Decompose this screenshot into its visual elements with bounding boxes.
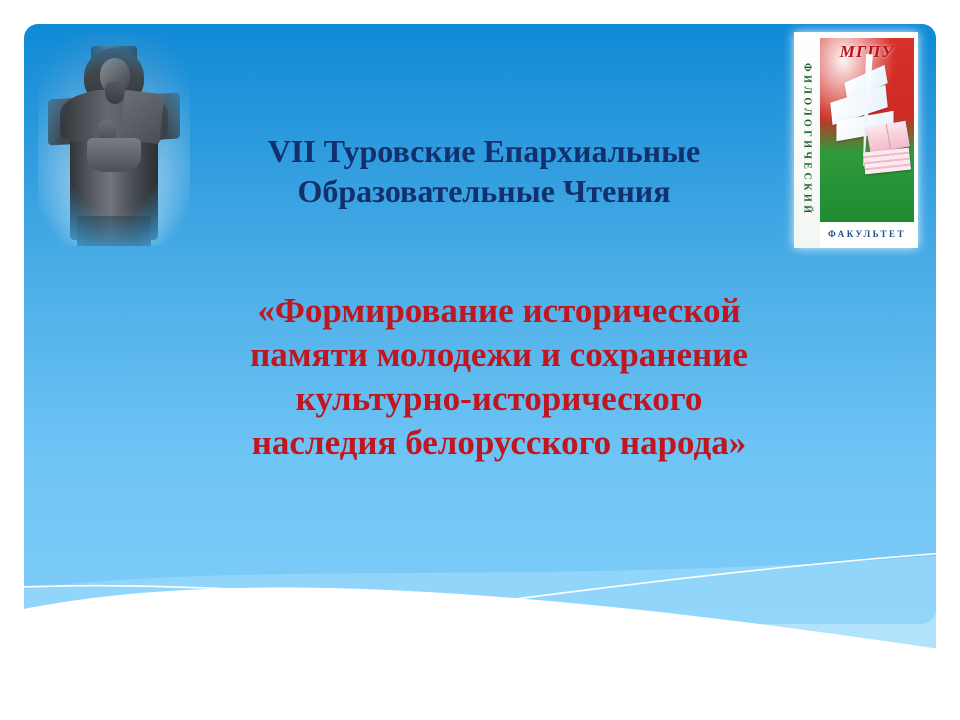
slide-subtitle-line-1: «Формирование исторической bbox=[134, 289, 864, 333]
logo-vertical-label: ФИЛОЛОГИЧЕСКИЙ bbox=[802, 63, 813, 217]
logo-artwork: МГПУ bbox=[820, 38, 914, 222]
slide-title-line-1: VII Туровские Епархиальные bbox=[174, 132, 794, 172]
left-margin-mask bbox=[0, 530, 24, 720]
slide-subtitle: «Формирование исторической памяти молоде… bbox=[134, 289, 864, 465]
right-margin-mask bbox=[936, 530, 960, 720]
slide-subtitle-line-4: наследия белорусского народа» bbox=[134, 421, 864, 465]
slide-title-line-2: Образовательные Чтения bbox=[174, 172, 794, 212]
statue-tablet bbox=[119, 90, 164, 144]
turov-monument-photo bbox=[38, 34, 190, 246]
statue-robe-fold bbox=[87, 138, 141, 172]
mgpu-philological-faculty-logo: ФИЛОЛОГИЧЕСКИЙ МГПУ ФАКУЛЬТЕТ bbox=[794, 32, 918, 248]
bottom-wave-decoration bbox=[0, 530, 960, 720]
slide-subtitle-line-2: памяти молодежи и сохранение bbox=[134, 333, 864, 377]
logo-bottom-label: ФАКУЛЬТЕТ bbox=[820, 224, 914, 244]
statue-beard bbox=[105, 82, 125, 104]
slide-title: VII Туровские Епархиальные Образовательн… bbox=[174, 132, 794, 211]
logo-vertical-strip: ФИЛОЛОГИЧЕСКИЙ bbox=[794, 32, 820, 248]
logo-book-stack-icon bbox=[863, 148, 911, 175]
slide-subtitle-line-3: культурно-исторического bbox=[134, 377, 864, 421]
presentation-slide: ФИЛОЛОГИЧЕСКИЙ МГПУ ФАКУЛЬТЕТ VII Туровс… bbox=[0, 0, 960, 720]
statue-pedestal bbox=[77, 216, 151, 246]
